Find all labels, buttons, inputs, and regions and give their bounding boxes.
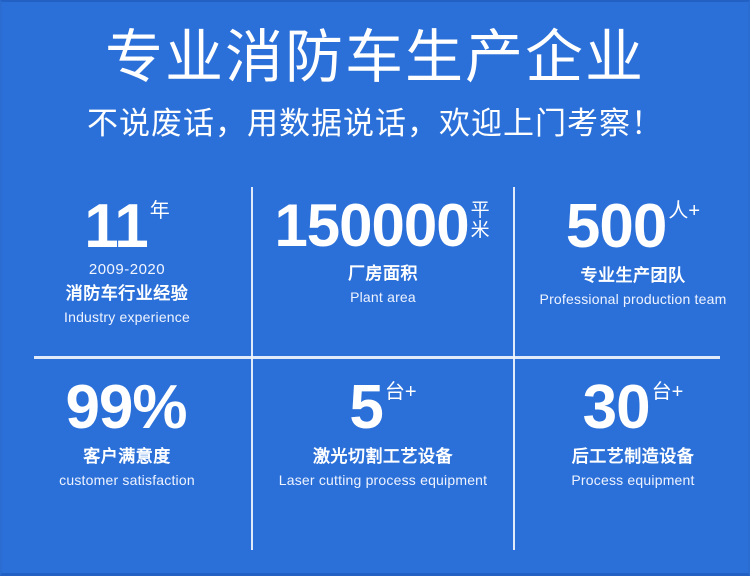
stat-number: 500 [566,198,666,255]
stat-value-line: 30 台+ [583,379,684,436]
stat-number: 5 [349,379,382,436]
stat-unit: 年 [150,201,170,221]
stat-unit: 台+ [652,382,684,402]
banner-header: 专业消防车生产企业 不说废话，用数据说话，欢迎上门考察！ [2,2,748,142]
stat-cell-laser-cutting: 5 台+ 激光切割工艺设备 Laser cutting process equi… [252,357,514,554]
stat-label-cn: 消防车行业经验 [66,283,189,306]
page-title: 专业消防车生产企业 [2,2,748,91]
stat-label-en: Laser cutting process equipment [279,471,488,490]
stat-unit: 人+ [668,201,700,221]
stat-label-en: customer satisfaction [59,471,195,490]
stat-value-line: 5 台+ [349,379,416,436]
stat-label-en: Plant area [350,288,416,307]
stat-unit: 平米 [471,201,492,241]
stat-label-en: Professional production team [540,290,727,309]
stat-cell-industry-experience: 11 年 2009-2020 消防车行业经验 Industry experien… [2,184,252,357]
stat-unit: 台+ [385,382,417,402]
stat-value-line: 11 年 [84,198,170,255]
stat-number: 150000 [274,198,468,253]
stat-label-cn: 后工艺制造设备 [572,446,695,469]
stat-value-line: 99% [65,379,188,436]
stat-number: 30 [583,379,650,436]
promo-banner: 专业消防车生产企业 不说废话，用数据说话，欢迎上门考察！ 11 年 2009-2… [0,0,750,576]
stat-cell-process-equipment: 30 台+ 后工艺制造设备 Process equipment [514,357,750,554]
stat-label-cn: 专业生产团队 [581,265,686,288]
stat-number: 11 [84,198,148,255]
stat-label-en: Process equipment [571,471,694,490]
stat-cell-production-team: 500 人+ 专业生产团队 Professional production te… [514,184,750,357]
stats-grid: 11 年 2009-2020 消防车行业经验 Industry experien… [2,184,750,554]
stat-label-cn: 厂房面积 [348,263,418,286]
stat-label-cn: 激光切割工艺设备 [313,446,453,469]
stat-cell-plant-area: 150000 平米 厂房面积 Plant area [252,184,514,357]
page-subtitle: 不说废话，用数据说话，欢迎上门考察！ [2,91,748,142]
stat-value-line: 500 人+ [566,198,700,255]
stat-number: 99% [65,379,186,436]
stat-value-line: 150000 平米 [274,198,491,253]
stat-label-cn: 客户满意度 [83,446,171,469]
stat-range: 2009-2020 [89,261,165,279]
stat-cell-customer-satisfaction: 99% 客户满意度 customer satisfaction [2,357,252,554]
stat-label-en: Industry experience [64,308,190,327]
